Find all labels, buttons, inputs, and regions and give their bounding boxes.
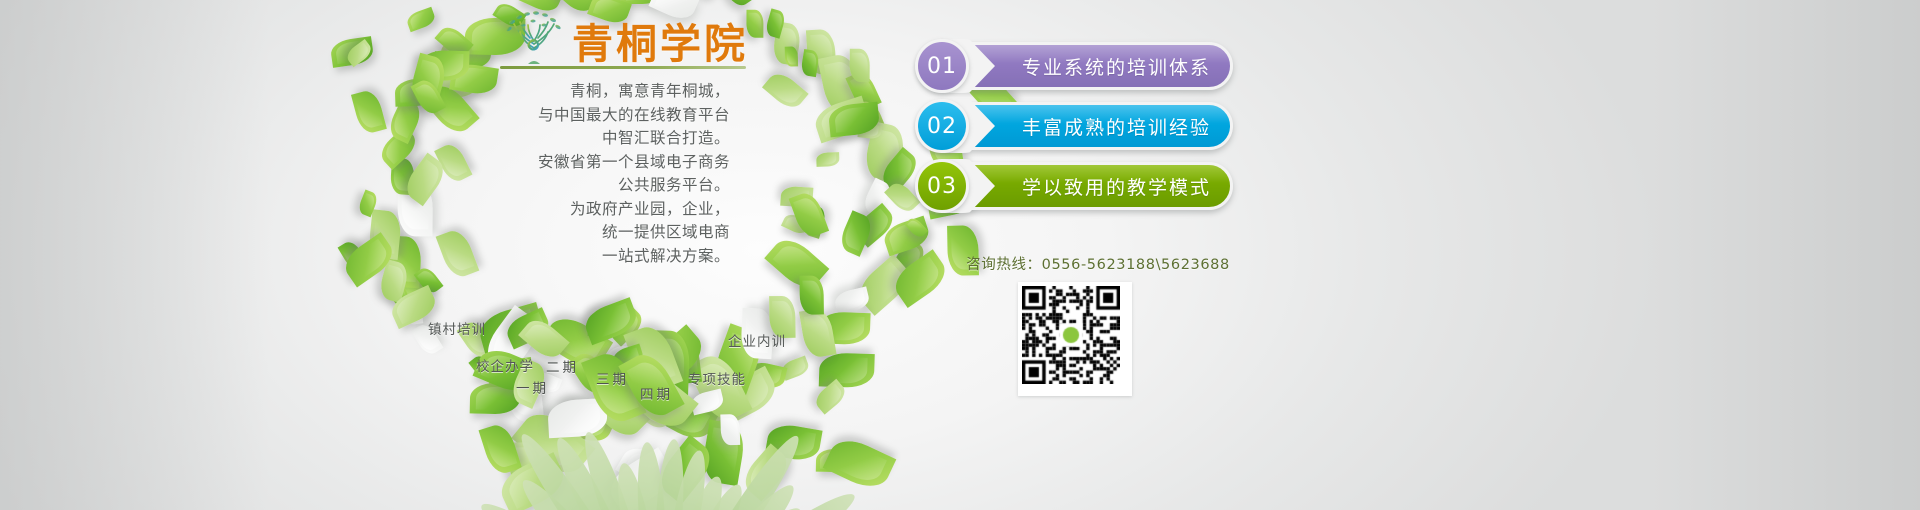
brand-logo-block: 青桐学院 [500,6,750,72]
feature-number-wrap: 02 [915,99,1025,153]
leaf-shape [833,286,871,314]
leaf-shape [849,48,870,81]
description-line: 中智汇联合打造。 [440,127,730,151]
feature-label: 学以致用的教学模式 [1022,162,1223,210]
leaf-shape [351,89,387,136]
stage-label: 四期 [640,383,673,403]
description-text: 青桐，寓意青年桐城，与中国最大的在线教育平台中智汇联合打造。安徽省第一个县域电子… [440,80,730,268]
feature-label: 丰富成熟的培训经验 [1022,102,1223,150]
hotline-text: 咨询热线：0556-5623188\5623688 [948,253,1248,274]
feature-number: 01 [915,39,969,93]
leaf-shape [405,7,437,33]
leaf-shape [784,46,797,67]
feature-pill-03[interactable]: 学以致用的教学模式03 [918,162,1233,210]
title-underline-rule [500,66,746,69]
bottom-label: 企业内训 [728,330,786,350]
description-line: 为政府产业园，企业， [440,198,730,222]
tree-icon [500,8,568,66]
stage-label: 二期 [546,356,579,376]
feature-number-wrap: 03 [915,159,1025,213]
leaf-shape [818,353,874,389]
feature-label: 专业系统的培训体系 [1022,42,1223,90]
leaf-shape [800,48,820,76]
description-line: 一站式解决方案。 [440,245,730,269]
bottom-label: 专项技能 [688,368,746,388]
leaf-shape [479,421,523,477]
promo-banner: 青桐学院 青桐，寓意青年桐城，与中国最大的在线教育平台中智汇联合打造。安徽省第一… [0,0,1920,510]
description-line: 公共服务平台。 [440,174,730,198]
leaf-shape [799,275,824,314]
leaf-shape [816,152,840,167]
feature-list: 专业系统的培训体系01丰富成熟的培训经验02学以致用的教学模式03 [918,42,1238,222]
grass-tuft-decoration [520,410,800,510]
description-line: 安徽省第一个县域电子商务 [440,151,730,175]
bottom-label: 校企办学 [476,355,534,375]
bottom-label: 镇村培训 [428,318,486,338]
page-title: 青桐学院 [572,10,748,70]
stage-label: 一期 [516,377,549,397]
description-line: 青桐，寓意青年桐城， [440,80,730,104]
feature-number: 03 [915,159,969,213]
feature-number-wrap: 01 [915,39,1025,93]
feature-number: 02 [915,99,969,153]
feature-pill-01[interactable]: 专业系统的培训体系01 [918,42,1233,90]
qr-code[interactable] [1018,282,1132,396]
description-line: 与中国最大的在线教育平台 [440,104,730,128]
leaf-shape [823,433,897,495]
description-line: 统一提供区域电商 [440,221,730,245]
feature-pill-02[interactable]: 丰富成熟的培训经验02 [918,102,1233,150]
stage-label: 三期 [596,368,629,388]
leaf-shape [762,68,809,113]
